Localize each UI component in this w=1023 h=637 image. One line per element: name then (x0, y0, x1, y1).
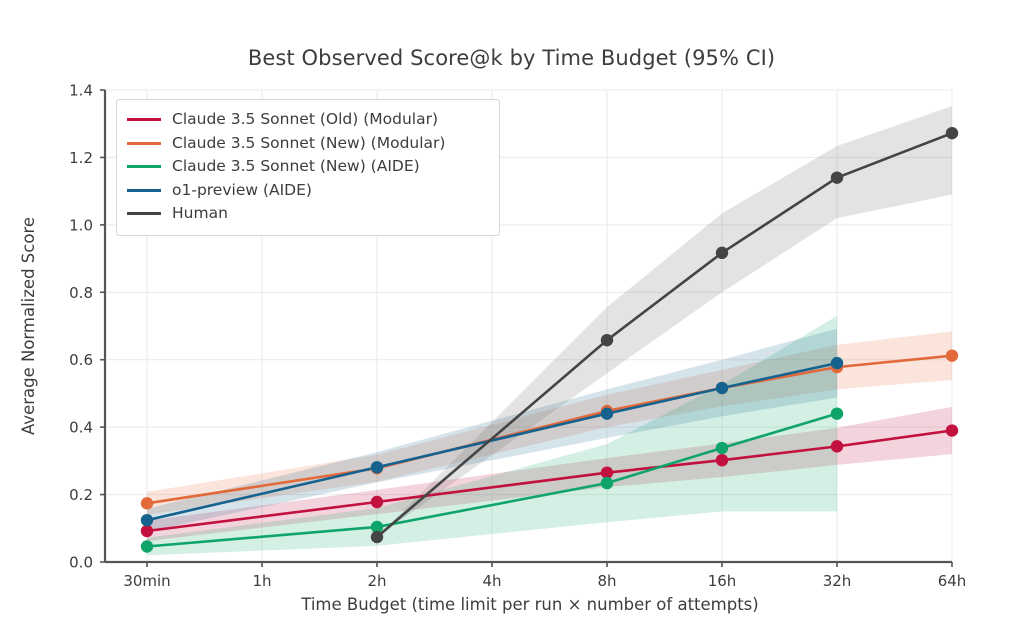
legend-item[interactable]: Claude 3.5 Sonnet (Old) (Modular) (127, 108, 489, 132)
y-tick-label: 0.0 (69, 554, 93, 572)
x-tick-label: 64h (938, 572, 967, 590)
x-tick-label: 30min (123, 572, 170, 590)
x-tick-label: 1h (252, 572, 271, 590)
legend-color-swatch (127, 189, 161, 192)
x-tick-label: 16h (708, 572, 737, 590)
legend-color-swatch (127, 165, 161, 168)
x-tick-label: 32h (823, 572, 852, 590)
legend-item-label: Claude 3.5 Sonnet (New) (Modular) (172, 136, 445, 152)
legend-item[interactable]: Claude 3.5 Sonnet (New) (Modular) (127, 132, 489, 156)
legend-item-label: Human (172, 206, 228, 222)
legend-color-swatch (127, 118, 161, 121)
chart-container: Best Observed Score@k by Time Budget (95… (0, 0, 1023, 637)
legend-item-label: Claude 3.5 Sonnet (New) (AIDE) (172, 159, 420, 175)
x-tick-label: 8h (597, 572, 616, 590)
legend-item-label: o1-preview (AIDE) (172, 183, 312, 199)
legend-color-swatch (127, 142, 161, 145)
y-tick-label: 0.6 (69, 351, 93, 369)
x-axis-title: Time Budget (time limit per run × number… (300, 595, 758, 614)
y-axis-title: Average Normalized Score (19, 217, 38, 435)
y-tick-label: 0.2 (69, 486, 93, 504)
chart-legend: Claude 3.5 Sonnet (Old) (Modular) Claude… (116, 99, 500, 236)
y-tick-label: 1.0 (69, 216, 93, 234)
y-tick-label: 1.2 (69, 149, 93, 167)
legend-item-label: Claude 3.5 Sonnet (Old) (Modular) (172, 112, 438, 128)
x-tick-labels: 30min1h2h4h8h16h32h64h (123, 562, 966, 590)
legend-color-swatch (127, 212, 161, 215)
y-tick-label: 0.4 (69, 419, 93, 437)
y-tick-label: 1.4 (69, 82, 93, 100)
x-tick-label: 4h (482, 572, 501, 590)
legend-item[interactable]: Claude 3.5 Sonnet (New) (AIDE) (127, 155, 489, 179)
legend-item[interactable]: o1-preview (AIDE) (127, 179, 489, 203)
y-tick-label: 0.8 (69, 284, 93, 302)
legend-item[interactable]: Human (127, 202, 489, 226)
x-tick-label: 2h (367, 572, 386, 590)
y-tick-labels: 0.00.20.40.60.81.01.21.4 (69, 82, 105, 572)
plot-area: 30min1h2h4h8h16h32h64h 0.00.20.40.60.81.… (0, 0, 1023, 637)
